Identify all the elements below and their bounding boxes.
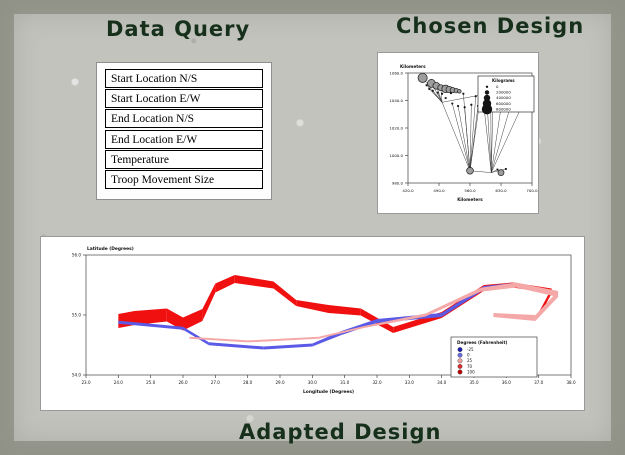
adapted-x-tick-label: 37.0 xyxy=(534,380,544,385)
adapted-retreat-band xyxy=(341,319,377,335)
adapted-x-tick-label: 24.0 xyxy=(114,380,124,385)
adapted-x-tick-label: 36.0 xyxy=(502,380,512,385)
data-query-title: Data Query xyxy=(106,17,250,41)
adapted-retreat-tail-band xyxy=(426,288,481,317)
adapted-advance-band xyxy=(202,284,215,322)
chosen-legend-label: 400000 xyxy=(496,95,511,100)
adapted-x-tick-label: 28.0 xyxy=(243,380,253,385)
adapted-x-tick-label: 33.0 xyxy=(405,380,415,385)
chosen-flow-line xyxy=(463,94,470,171)
adapted-retreat-band xyxy=(264,344,313,350)
chosen-legend-label: 800000 xyxy=(496,106,511,111)
adapted-design-plot-area: Latitude (Degrees)Longitude (Degrees)54.… xyxy=(41,237,586,412)
chosen-legend-label: 600000 xyxy=(496,101,511,106)
chosen-y-tick-label: 1020.0 xyxy=(389,126,403,131)
query-field-temperature[interactable]: Temperature xyxy=(105,150,263,169)
adapted-legend-label: 25 xyxy=(467,358,473,363)
chosen-flow-line xyxy=(458,106,470,171)
chosen-data-point xyxy=(475,95,477,97)
query-field-end-location-ew[interactable]: End Location E/W xyxy=(105,130,263,149)
adapted-advance-band xyxy=(274,282,297,307)
chosen-x-tick-label: 560.0 xyxy=(464,188,476,193)
adapted-advance-band xyxy=(183,309,202,331)
adapted-y-tick-label: 56.0 xyxy=(72,253,82,258)
adapted-x-tick-label: 38.0 xyxy=(566,380,576,385)
chosen-design-chart: KilometersKilometers980.01000.01020.0104… xyxy=(377,52,539,214)
adapted-legend-label: -25 xyxy=(467,347,474,352)
adapted-x-tick-label: 34.0 xyxy=(437,380,447,385)
adapted-advance-band xyxy=(329,305,361,316)
chosen-data-point xyxy=(418,73,427,82)
adapted-x-tick-label: 29.0 xyxy=(275,380,285,385)
adapted-x-axis-label: Longitude (Degrees) xyxy=(303,389,354,395)
adapted-legend-label: 100 xyxy=(467,369,475,374)
adapted-x-tick-label: 25.0 xyxy=(146,380,156,385)
chosen-data-point xyxy=(467,167,474,174)
chosen-x-tick-label: 700.0 xyxy=(526,188,538,193)
chosen-x-tick-label: 490.0 xyxy=(433,188,445,193)
adapted-legend-marker xyxy=(458,359,462,363)
chosen-data-point xyxy=(450,92,452,94)
adapted-retreat-tail-band xyxy=(248,337,319,343)
adapted-advance-band xyxy=(235,275,274,289)
adapted-x-tick-label: 23.0 xyxy=(81,380,91,385)
chosen-data-point xyxy=(498,170,504,176)
chosen-data-point xyxy=(496,168,498,170)
adapted-legend-marker xyxy=(458,370,462,374)
adapted-retreat-band xyxy=(209,342,264,349)
chosen-data-point xyxy=(505,168,507,170)
adapted-x-tick-label: 30.0 xyxy=(308,380,318,385)
query-field-end-location-ns[interactable]: End Location N/S xyxy=(105,109,263,128)
adapted-retreat-band xyxy=(183,327,209,346)
adapted-advance-band xyxy=(135,309,167,326)
adapted-retreat-tail-band xyxy=(535,291,558,321)
query-field-troop-movement-size[interactable]: Troop Movement Size xyxy=(105,170,263,189)
chosen-legend-marker xyxy=(485,90,489,94)
chosen-data-point xyxy=(464,106,466,108)
chosen-data-point xyxy=(462,93,464,95)
adapted-advance-band xyxy=(118,311,134,328)
adapted-legend-label: 70 xyxy=(467,364,473,369)
chosen-y-axis-label: Kilometers xyxy=(400,64,426,69)
chosen-flow-line xyxy=(442,102,470,170)
chosen-flow-line xyxy=(484,108,491,172)
chosen-data-point xyxy=(428,88,430,90)
chosen-y-tick-label: 1060.0 xyxy=(389,71,403,76)
chosen-legend-title: Kilograms xyxy=(492,78,515,83)
slide-canvas: Data Query Start Location N/S Start Loca… xyxy=(0,0,625,455)
chosen-data-point xyxy=(432,90,434,92)
adapted-retreat-tail-band xyxy=(319,326,364,339)
chosen-data-point xyxy=(470,104,472,106)
chosen-data-point xyxy=(445,97,447,99)
query-field-start-location-ns[interactable]: Start Location N/S xyxy=(105,69,263,88)
adapted-y-axis-label: Latitude (Degrees) xyxy=(87,246,134,252)
adapted-design-title: Adapted Design xyxy=(239,420,441,444)
chosen-x-tick-label: 630.0 xyxy=(495,188,507,193)
adapted-y-tick-label: 54.0 xyxy=(72,373,82,378)
adapted-legend-marker xyxy=(458,364,462,368)
chosen-data-point xyxy=(437,91,439,93)
adapted-legend-marker xyxy=(458,353,462,357)
adapted-x-tick-label: 32.0 xyxy=(372,380,382,385)
adapted-y-tick-label: 55.0 xyxy=(72,313,82,318)
adapted-design-chart: Latitude (Degrees)Longitude (Degrees)54.… xyxy=(40,236,585,411)
adapted-advance-band xyxy=(296,300,328,313)
chosen-data-point xyxy=(457,105,459,107)
chosen-x-axis-label: Kilometers xyxy=(457,197,483,202)
adapted-legend-title: Degrees (Fahrenheit) xyxy=(457,340,507,345)
chosen-data-point xyxy=(426,84,428,86)
data-query-panel: Start Location N/S Start Location E/W En… xyxy=(96,62,272,200)
chosen-legend-marker xyxy=(486,86,488,88)
adapted-legend-marker xyxy=(458,347,462,351)
adapted-x-tick-label: 31.0 xyxy=(340,380,350,385)
chosen-design-title: Chosen Design xyxy=(396,14,584,38)
chosen-data-point xyxy=(451,102,453,104)
adapted-retreat-tail-band xyxy=(189,337,247,343)
chosen-legend-label: 200000 xyxy=(496,90,511,95)
adapted-retreat-tail-band xyxy=(493,313,535,321)
adapted-retreat-tail-band xyxy=(516,283,558,298)
chosen-data-point xyxy=(441,93,443,95)
adapted-x-tick-label: 27.0 xyxy=(211,380,221,385)
chosen-design-plot-area: KilometersKilometers980.01000.01020.0104… xyxy=(378,53,540,215)
chosen-legend-marker xyxy=(482,104,492,114)
chosen-data-point xyxy=(458,90,462,94)
query-field-start-location-ew[interactable]: Start Location E/W xyxy=(105,89,263,108)
chosen-y-tick-label: 1040.0 xyxy=(389,98,403,103)
adapted-x-tick-label: 26.0 xyxy=(178,380,188,385)
adapted-advance-band xyxy=(215,275,234,293)
chosen-x-tick-label: 420.0 xyxy=(402,188,414,193)
adapted-x-tick-label: 35.0 xyxy=(469,380,479,385)
chosen-y-tick-label: 1000.0 xyxy=(389,153,403,158)
chosen-y-tick-label: 980.0 xyxy=(392,181,404,186)
